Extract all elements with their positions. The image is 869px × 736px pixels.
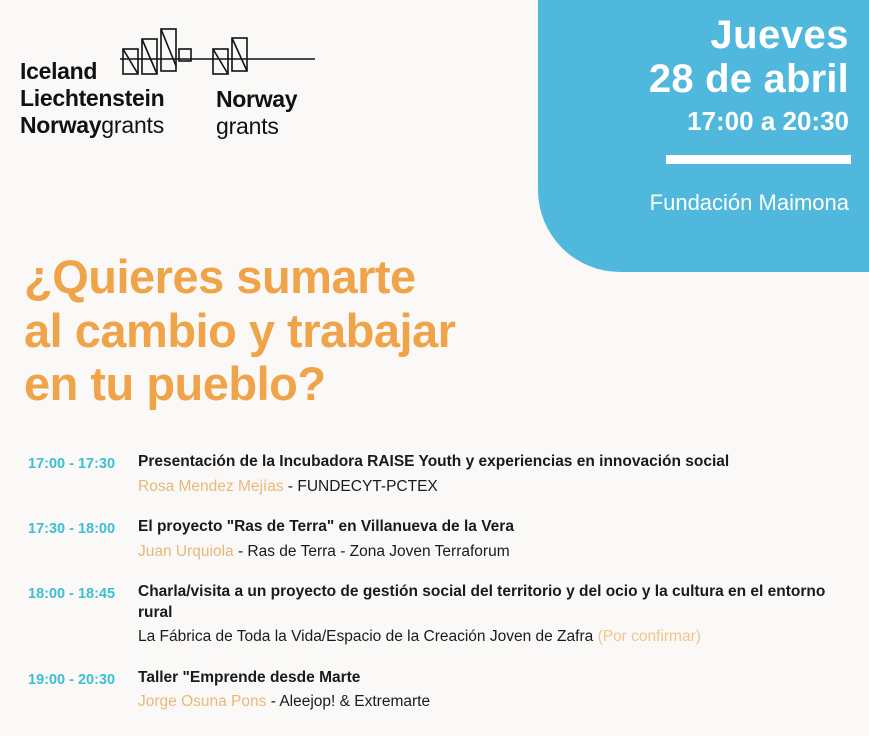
logo-text-grants-2: grants bbox=[216, 113, 279, 139]
schedule-speaker: Juan Urquiola bbox=[138, 543, 234, 560]
schedule-entry: Charla/visita a un proyecto de gestión s… bbox=[138, 582, 869, 648]
logo-text-iceland: Iceland bbox=[20, 58, 97, 84]
logo-text-norway: Norway bbox=[20, 112, 101, 138]
event-venue: Fundación Maimona bbox=[538, 190, 851, 216]
schedule-title: Taller "Emprende desde Marte bbox=[138, 668, 849, 689]
schedule-entry: Presentación de la Incubadora RAISE Yout… bbox=[138, 452, 869, 497]
poster-root: Iceland Liechtenstein Norwaygrants Norwa… bbox=[0, 0, 869, 736]
schedule-title: Charla/visita a un proyecto de gestión s… bbox=[138, 582, 849, 623]
eea-norway-grants-logo: Iceland Liechtenstein Norwaygrants Norwa… bbox=[20, 26, 320, 136]
schedule-time: 17:30 - 18:00 bbox=[0, 517, 138, 541]
logo-col2-spacer bbox=[216, 58, 297, 86]
headline-line-3: en tu pueblo? bbox=[24, 357, 624, 411]
logo-wordmark-column-2: Norway grants bbox=[216, 58, 297, 140]
logo-line-grants-2: grants bbox=[216, 113, 297, 140]
headline-line-2: al cambio y trabajar bbox=[24, 304, 624, 358]
schedule-affiliation: - Ras de Terra - Zona Joven Terraforum bbox=[238, 543, 510, 560]
poster-headline: ¿Quieres sumarte al cambio y trabajar en… bbox=[24, 250, 624, 411]
schedule-subtitle: La Fábrica de Toda la Vida/Espacio de la… bbox=[138, 626, 849, 647]
schedule-entry: Taller "Emprende desde Marte Jorge Osuna… bbox=[138, 668, 869, 713]
schedule-row: 18:00 - 18:45 Charla/visita a un proyect… bbox=[0, 582, 869, 648]
schedule-title: El proyecto "Ras de Terra" en Villanueva… bbox=[138, 517, 849, 538]
schedule-row: 17:30 - 18:00 El proyecto "Ras de Terra"… bbox=[0, 517, 869, 562]
schedule-speaker: Rosa Mendez Mejías bbox=[138, 478, 284, 495]
schedule-title: Presentación de la Incubadora RAISE Yout… bbox=[138, 452, 849, 473]
schedule-speaker: Jorge Osuna Pons bbox=[138, 693, 266, 710]
event-hours: 17:00 a 20:30 bbox=[538, 107, 851, 137]
schedule-subtitle: Rosa Mendez Mejías - FUNDECYT-PCTEX bbox=[138, 476, 849, 497]
schedule-subtitle: Jorge Osuna Pons - Aleejop! & Extremarte bbox=[138, 691, 849, 712]
event-weekday: Jueves bbox=[538, 14, 851, 56]
schedule-affiliation: La Fábrica de Toda la Vida/Espacio de la… bbox=[138, 628, 593, 645]
event-date: 28 de abril bbox=[538, 58, 851, 100]
date-panel: Jueves 28 de abril 17:00 a 20:30 Fundaci… bbox=[538, 0, 869, 272]
schedule-note: (Por confirmar) bbox=[598, 628, 701, 645]
logo-text-liechtenstein: Liechtenstein bbox=[20, 85, 164, 111]
logo-text-grants: grants bbox=[101, 112, 164, 138]
schedule-entry: El proyecto "Ras de Terra" en Villanueva… bbox=[138, 517, 869, 562]
schedule-time: 17:00 - 17:30 bbox=[0, 452, 138, 476]
schedule-time: 19:00 - 20:30 bbox=[0, 668, 138, 692]
schedule-row: 19:00 - 20:30 Taller "Emprende desde Mar… bbox=[0, 668, 869, 713]
logo-text-norway-2: Norway bbox=[216, 86, 297, 112]
schedule-affiliation: - FUNDECYT-PCTEX bbox=[288, 478, 438, 495]
schedule-row: 17:00 - 17:30 Presentación de la Incubad… bbox=[0, 452, 869, 497]
schedule-list: 17:00 - 17:30 Presentación de la Incubad… bbox=[0, 452, 869, 733]
schedule-time: 18:00 - 18:45 bbox=[0, 582, 138, 606]
panel-divider bbox=[666, 155, 851, 164]
logo-line-norway-2: Norway bbox=[216, 86, 297, 113]
headline-line-1: ¿Quieres sumarte bbox=[24, 250, 624, 304]
schedule-affiliation: - Aleejop! & Extremarte bbox=[271, 693, 430, 710]
schedule-subtitle: Juan Urquiola - Ras de Terra - Zona Jove… bbox=[138, 541, 849, 562]
